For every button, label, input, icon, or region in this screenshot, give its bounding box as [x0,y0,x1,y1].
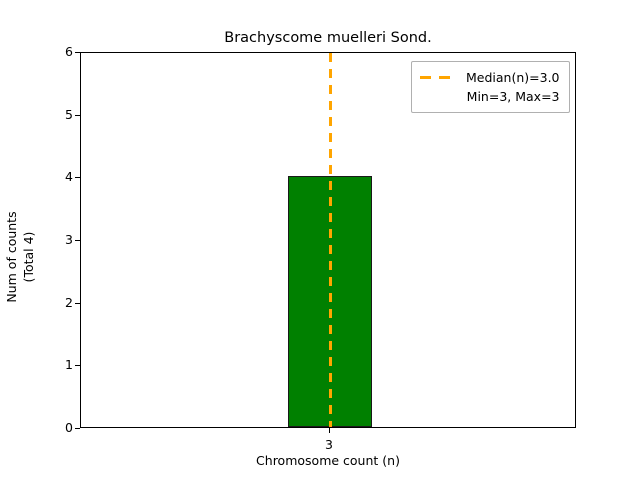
x-tick-label: 3 [299,437,359,452]
y-tick-mark [75,52,80,53]
figure-canvas: Brachyscome muelleri Sond. 0 1 2 3 4 5 6… [0,0,640,480]
y-tick-label: 3 [33,234,73,246]
legend: Median(n)=3.0 Min=3, Max=3 [411,61,570,113]
legend-label-median: Median(n)=3.0 [466,70,560,85]
dashed-line-icon [420,76,456,79]
y-axis-label: Num of counts (Total 4) [3,177,37,337]
y-tick-mark [75,365,80,366]
y-tick-label: 0 [33,422,73,434]
y-tick-mark [75,303,80,304]
y-axis-label-line-1: Num of counts [3,177,20,337]
legend-item-median: Median(n)=3.0 [420,68,560,87]
chart-title: Brachyscome muelleri Sond. [80,30,576,46]
legend-item-minmax: Min=3, Max=3 [420,87,560,106]
y-tick-label: 2 [33,297,73,309]
x-tick-mark [329,428,330,433]
y-tick-label: 4 [33,171,73,183]
y-axis-label-line-2: (Total 4) [20,177,37,337]
y-tick-mark [75,428,80,429]
blank-swatch-icon [420,95,456,98]
y-tick-mark [75,240,80,241]
y-tick-mark [75,177,80,178]
y-tick-label: 5 [33,109,73,121]
y-tick-label: 1 [33,359,73,371]
x-axis-label: Chromosome count (n) [80,453,576,468]
y-tick-mark [75,115,80,116]
y-tick-label: 6 [33,46,73,58]
legend-label-minmax: Min=3, Max=3 [466,89,560,104]
